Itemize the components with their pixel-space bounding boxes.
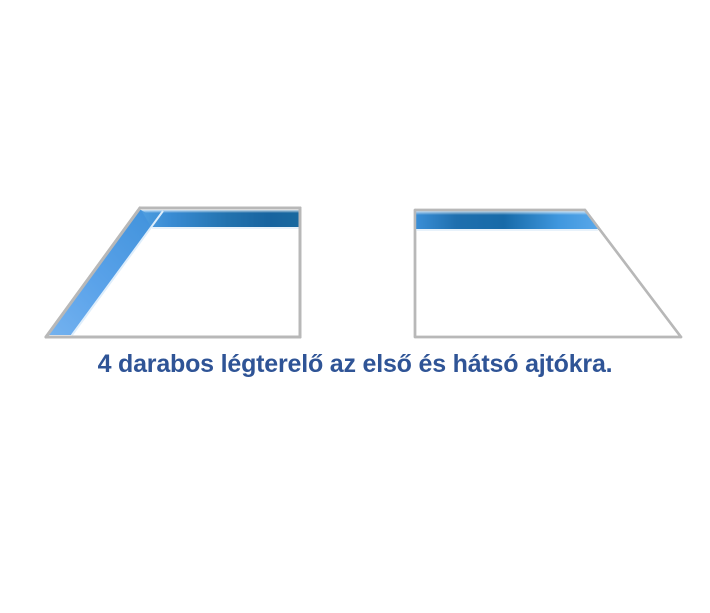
product-illustration: 4 darabos légterelő az első és hátsó ajt… [0, 0, 710, 613]
caption-row: 4 darabos légterelő az első és hátsó ajt… [0, 349, 710, 379]
product-caption: 4 darabos légterelő az első és hátsó ajt… [98, 349, 613, 379]
front-deflector-top-highlight [141, 210, 299, 213]
deflector-diagram [0, 0, 710, 345]
rear-door-window-shape [415, 210, 681, 337]
rear-deflector-top-highlight [416, 211, 588, 215]
deflector-diagram-svg [0, 0, 710, 345]
front-door-window-shape [46, 208, 300, 337]
